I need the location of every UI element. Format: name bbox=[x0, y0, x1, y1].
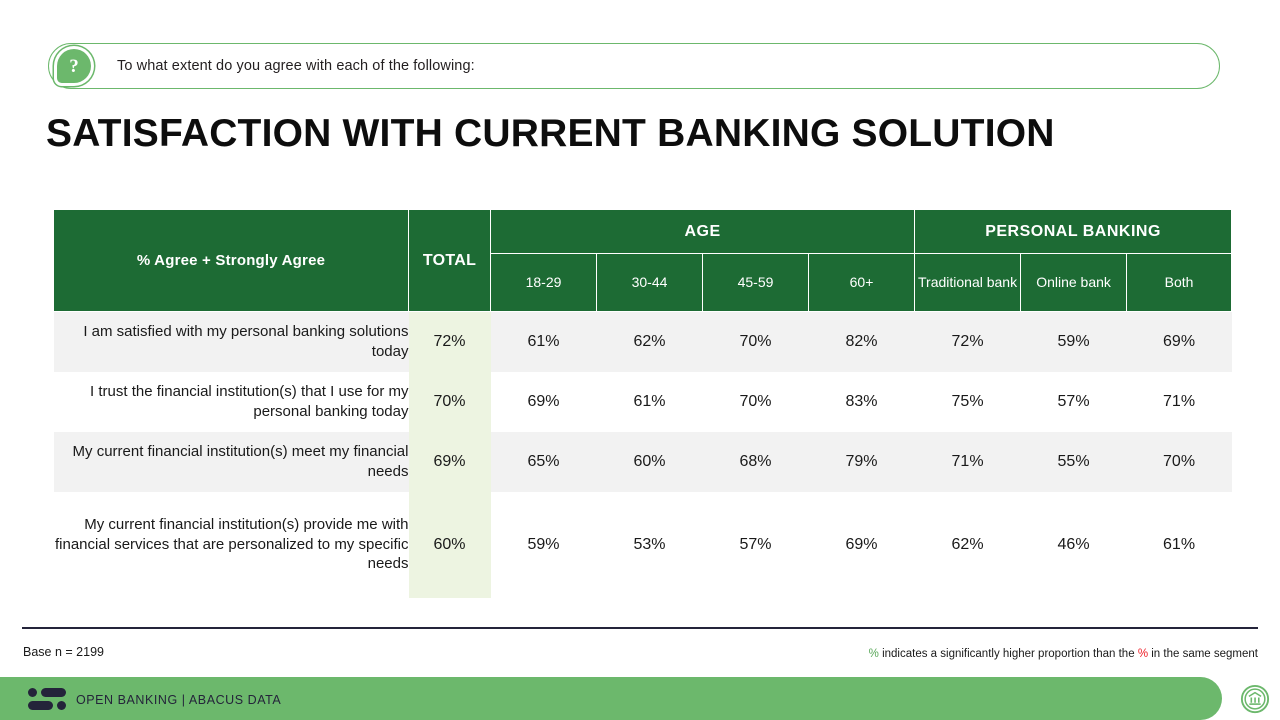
column-group-header-age: AGE bbox=[491, 210, 915, 254]
question-mark-glyph: ? bbox=[69, 57, 79, 76]
table-row: My current financial institution(s) meet… bbox=[54, 432, 1232, 492]
column-header-total: TOTAL bbox=[409, 210, 491, 312]
cell-total: 72% bbox=[409, 312, 491, 372]
footer-divider bbox=[22, 627, 1258, 629]
column-header-traditional-bank: Traditional bank bbox=[915, 254, 1021, 312]
cell-value: 70% bbox=[703, 312, 809, 372]
cell-value: 79% bbox=[809, 432, 915, 492]
slide-canvas: ? To what extent do you agree with each … bbox=[0, 0, 1280, 720]
table-row: I am satisfied with my personal banking … bbox=[54, 312, 1232, 372]
logo-bar-bottom bbox=[28, 701, 53, 710]
footer-brand-text: OPEN BANKING | ABACUS DATA bbox=[76, 693, 281, 707]
column-header-online-bank: Online bank bbox=[1021, 254, 1127, 312]
row-label: My current financial institution(s) prov… bbox=[54, 492, 409, 598]
cell-value: 59% bbox=[491, 492, 597, 598]
table-row: I trust the financial institution(s) tha… bbox=[54, 372, 1232, 432]
column-header-statement: % Agree + Strongly Agree bbox=[54, 210, 409, 312]
cell-value: 53% bbox=[597, 492, 703, 598]
question-banner-text: To what extent do you agree with each of… bbox=[117, 58, 475, 74]
cell-value: 83% bbox=[809, 372, 915, 432]
logo-dot-top bbox=[28, 688, 37, 697]
cell-value: 71% bbox=[915, 432, 1021, 492]
cell-value: 69% bbox=[1127, 312, 1232, 372]
cell-total: 69% bbox=[409, 432, 491, 492]
cell-value: 71% bbox=[1127, 372, 1232, 432]
cell-value: 69% bbox=[491, 372, 597, 432]
cell-value: 69% bbox=[809, 492, 915, 598]
cell-value: 62% bbox=[597, 312, 703, 372]
cell-value: 55% bbox=[1021, 432, 1127, 492]
significance-legend: % indicates a significantly higher propo… bbox=[869, 648, 1258, 660]
page-title: SATISFACTION WITH CURRENT BANKING SOLUTI… bbox=[46, 112, 1055, 156]
cell-value: 82% bbox=[809, 312, 915, 372]
cell-value: 65% bbox=[491, 432, 597, 492]
question-banner: ? To what extent do you agree with each … bbox=[48, 43, 1220, 89]
column-header-30-44: 30-44 bbox=[597, 254, 703, 312]
cell-value: 62% bbox=[915, 492, 1021, 598]
column-group-header-personal-banking: PERSONAL BANKING bbox=[915, 210, 1232, 254]
base-size-note: Base n = 2199 bbox=[23, 645, 104, 659]
cell-total: 70% bbox=[409, 372, 491, 432]
legend-higher-symbol: % bbox=[869, 648, 879, 660]
table-row: My current financial institution(s) prov… bbox=[54, 492, 1232, 598]
legend-end-text: in the same segment bbox=[1148, 648, 1258, 660]
cell-value: 57% bbox=[1021, 372, 1127, 432]
question-mark-circle-icon: ? bbox=[57, 49, 91, 83]
legend-middle-text: indicates a significantly higher proport… bbox=[879, 648, 1138, 660]
cell-value: 60% bbox=[597, 432, 703, 492]
cell-value: 61% bbox=[1127, 492, 1232, 598]
cell-value: 59% bbox=[1021, 312, 1127, 372]
cell-value: 57% bbox=[703, 492, 809, 598]
cell-value: 46% bbox=[1021, 492, 1127, 598]
bank-building-icon bbox=[1240, 684, 1270, 714]
row-label: My current financial institution(s) meet… bbox=[54, 432, 409, 492]
cell-total: 60% bbox=[409, 492, 491, 598]
logo-dot-bottom bbox=[57, 701, 66, 710]
cell-value: 70% bbox=[1127, 432, 1232, 492]
cell-value: 68% bbox=[703, 432, 809, 492]
abacus-logo bbox=[28, 686, 66, 712]
legend-lower-symbol: % bbox=[1138, 648, 1148, 660]
home-badge[interactable] bbox=[1238, 682, 1272, 716]
logo-bar-top bbox=[41, 688, 66, 697]
satisfaction-matrix-table: % Agree + Strongly Agree TOTAL AGE PERSO… bbox=[53, 209, 1232, 598]
column-header-both: Both bbox=[1127, 254, 1232, 312]
cell-value: 61% bbox=[597, 372, 703, 432]
column-header-45-59: 45-59 bbox=[703, 254, 809, 312]
cell-value: 72% bbox=[915, 312, 1021, 372]
table-header-row-groups: % Agree + Strongly Agree TOTAL AGE PERSO… bbox=[54, 210, 1232, 254]
column-header-60-plus: 60+ bbox=[809, 254, 915, 312]
cell-value: 61% bbox=[491, 312, 597, 372]
row-label: I trust the financial institution(s) tha… bbox=[54, 372, 409, 432]
cell-value: 75% bbox=[915, 372, 1021, 432]
row-label: I am satisfied with my personal banking … bbox=[54, 312, 409, 372]
column-header-18-29: 18-29 bbox=[491, 254, 597, 312]
cell-value: 70% bbox=[703, 372, 809, 432]
